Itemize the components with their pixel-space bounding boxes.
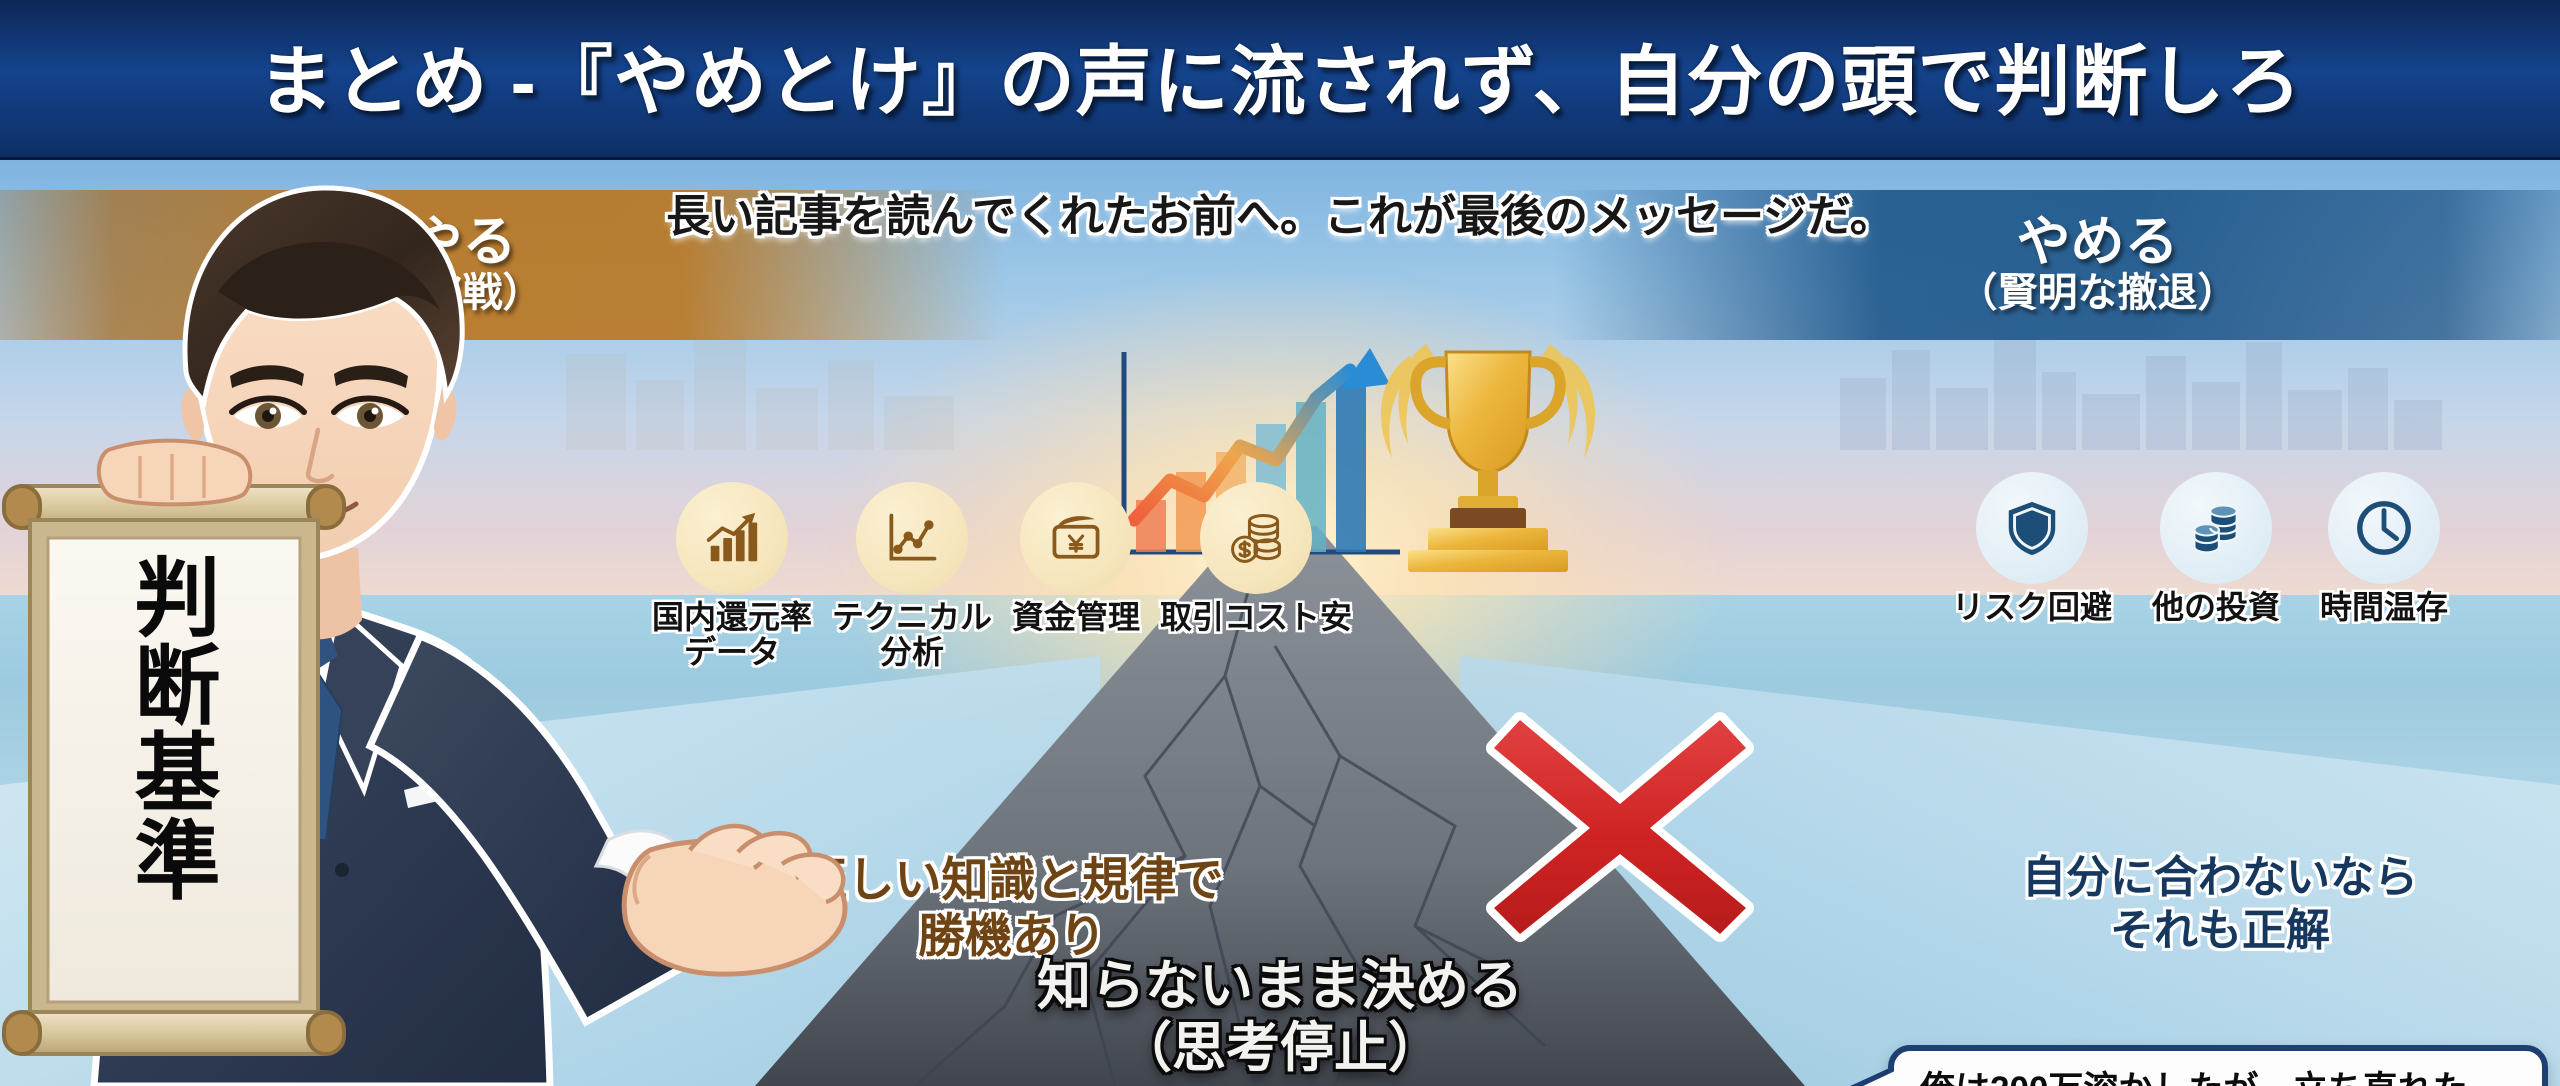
- caption-retreat-line1: 自分に合わないなら: [1940, 852, 2500, 905]
- band-retreat-title: やめる: [2017, 214, 2179, 271]
- caption-retreat-line2: それも正解: [1940, 905, 2500, 958]
- icon-label: 資金管理: [1012, 600, 1140, 635]
- header-bar: まとめ -『やめとけ』の声に流されず、自分の頭で判断しろ: [0, 0, 2560, 160]
- danger-main-line2: （思考停止）: [1037, 1017, 1523, 1079]
- scroll-char-2: 断: [135, 643, 221, 731]
- trophy-icon: [1358, 328, 1618, 578]
- clock-icon: [2328, 472, 2440, 584]
- scroll-char-3: 基: [135, 730, 221, 818]
- shield-icon: [1976, 472, 2088, 584]
- icon-cell-other-investments[interactable]: 他の投資: [2152, 472, 2280, 625]
- right-icon-row: リスク回避: [1952, 472, 2448, 625]
- icon-cell-risk-avoidance[interactable]: リスク回避: [1952, 472, 2112, 625]
- icon-cell-fund-management[interactable]: 資金管理: [1012, 482, 1140, 635]
- scene: やる （挑戦） やめる （賢明な撤退） 長い記事を読んでくれたお前へ。これが最後…: [0, 160, 2560, 1086]
- coins-stack-icon: [2160, 472, 2272, 584]
- danger-main-text: 知らないまま決める （思考停止）: [1037, 955, 1523, 1079]
- danger-main-line1: 知らないまま決める: [1037, 955, 1523, 1017]
- band-retreat-sub: （賢明な撤退）: [1958, 270, 2238, 316]
- scroll-char-4: 準: [135, 818, 221, 906]
- speech-bubble: 俺は200万溶かしたが、立ち直れた。 お前ならもっとうまくやれる。 自分の頭で決…: [1888, 1045, 2548, 1086]
- caption-retreat: 自分に合わないなら それも正解: [1940, 852, 2500, 958]
- speech-bubble-tail-inner: [1861, 1070, 1897, 1086]
- icon-cell-time-preservation[interactable]: 時間温存: [2320, 472, 2448, 625]
- right-hand-open: [624, 826, 845, 974]
- page-title: まとめ -『やめとけ』の声に流されず、自分の頭で判断しろ: [257, 45, 2302, 121]
- red-x-mark-icon: [1486, 712, 1754, 942]
- wallet-yen-icon: [1020, 482, 1132, 594]
- left-hand: [99, 441, 250, 505]
- infographic-canvas: まとめ -『やめとけ』の声に流されず、自分の頭で判断しろ: [0, 0, 2560, 1086]
- icon-cell-low-trading-cost[interactable]: 取引コスト安: [1160, 482, 1352, 635]
- coins-dollar-icon: [1200, 482, 1312, 594]
- speech-bubble-line1: 俺は200万溶かしたが、立ち直れた。: [1920, 1067, 2520, 1086]
- scroll-text: 判 断 基 準: [60, 555, 295, 906]
- icon-label: 他の投資: [2152, 590, 2280, 625]
- icon-label: 時間温存: [2320, 590, 2448, 625]
- icon-label: リスク回避: [1952, 590, 2112, 625]
- scroll-char-1: 判: [135, 555, 221, 643]
- icon-label: 取引コスト安: [1160, 600, 1352, 635]
